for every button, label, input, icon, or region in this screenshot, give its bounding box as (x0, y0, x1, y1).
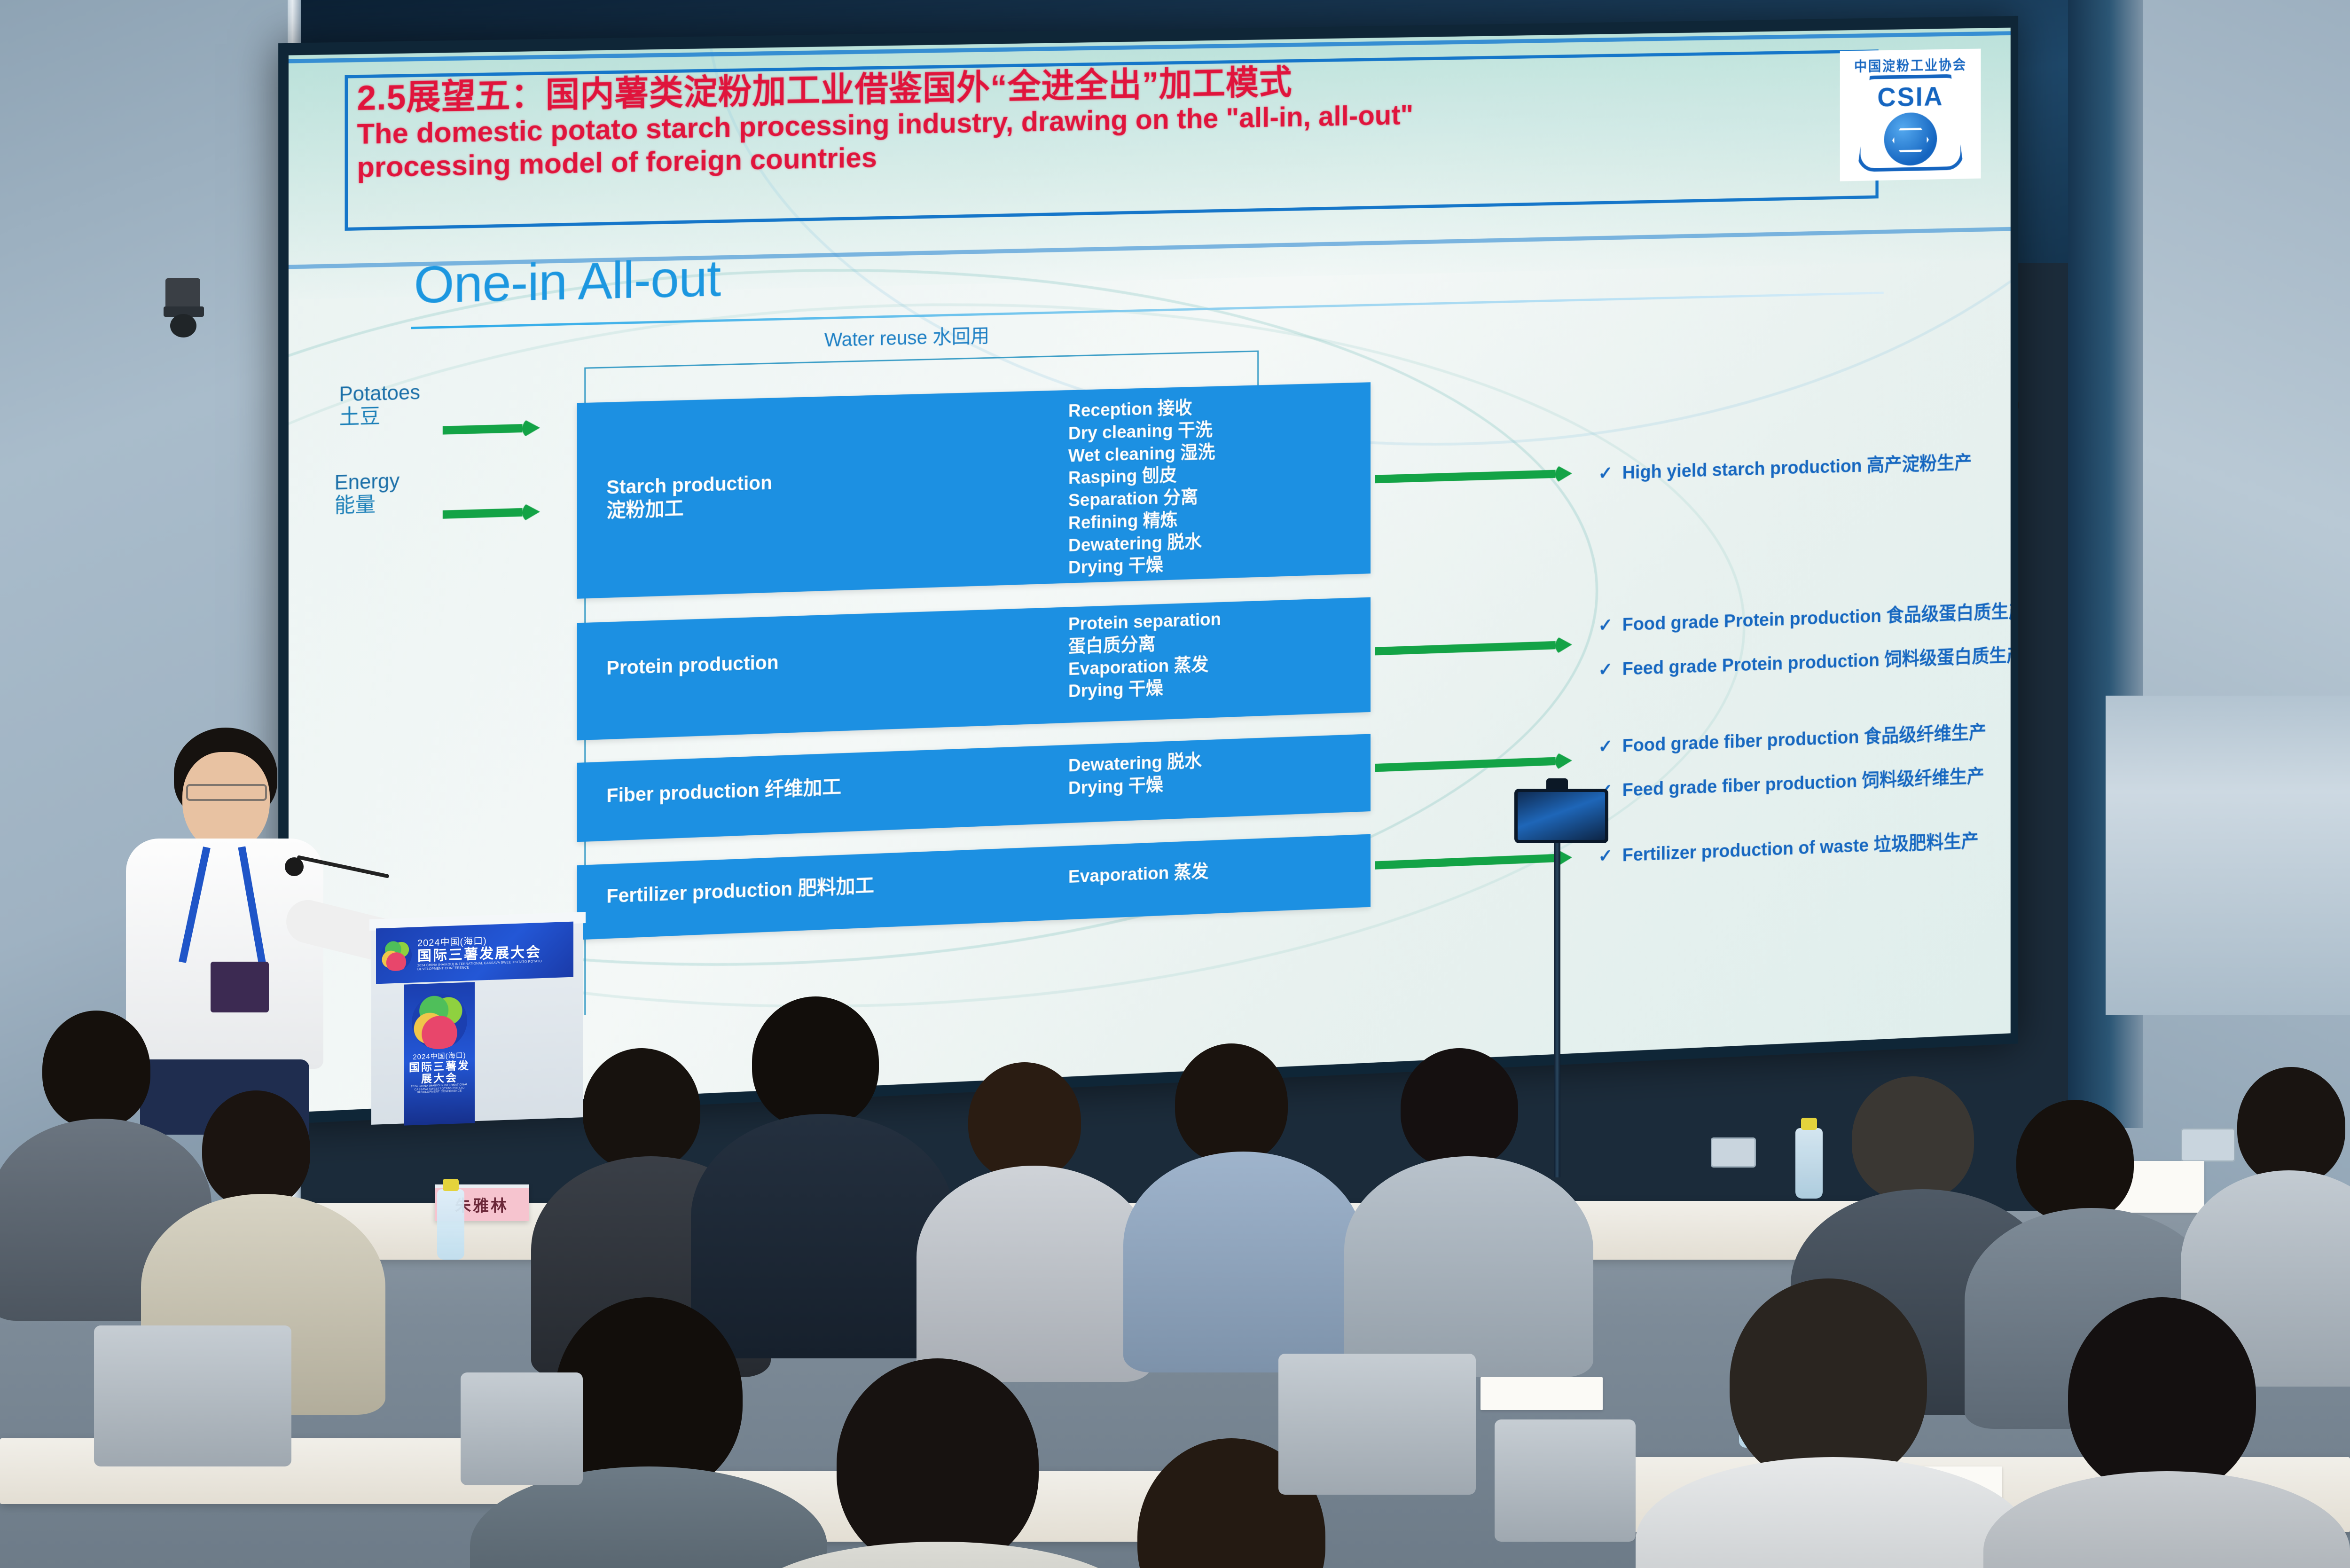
starch-steps-list: Reception 接收 Dry cleaning 干洗 Wet cleanin… (1068, 396, 1215, 580)
water-reuse-line (584, 351, 1258, 369)
output-feed-grade-protein: ✓Feed grade Protein production 饲料级蛋白质生产 (1598, 640, 2010, 682)
presenter-face (182, 752, 270, 853)
chair (94, 1325, 291, 1466)
input-label-potatoes: Potatoes 土豆 (339, 381, 420, 429)
check-icon: ✓ (1598, 846, 1613, 866)
chair (461, 1372, 583, 1485)
fiber-box-label: Fiber production 纤维加工 (606, 776, 841, 808)
process-box-fertilizer-production: Fertilizer production 肥料加工 Evaporation 蒸… (577, 834, 1371, 940)
water-bottle (1795, 1128, 1823, 1199)
presenter-badge (211, 962, 269, 1012)
process-box-protein-production: Protein production Protein separation 蛋白… (577, 597, 1371, 741)
wall-camera-lens (170, 314, 196, 337)
paper-document (1480, 1377, 1603, 1410)
arrow-protein-output (1375, 637, 1572, 659)
fiber-steps-list: Dewatering 脱水 Drying 干燥 (1068, 750, 1202, 800)
recording-phone (1514, 789, 1608, 843)
input-label-energy: Energy 能量 (335, 470, 400, 517)
output-feed-grade-fiber: ✓Feed grade fiber production 饲料级纤维生产 (1598, 760, 1984, 802)
starch-box-label: Starch production 淀粉加工 (606, 471, 772, 523)
output-high-yield-starch: ✓High yield starch production 高产淀粉生产 (1598, 447, 1972, 485)
water-bottle (437, 1189, 464, 1260)
wall-camera-bracket (165, 278, 200, 309)
tripod-pole (1554, 820, 1560, 1177)
podium-banner: 2024中国(海口) 国际三薯发展大会 2024 CHINA (HAIKOU) … (376, 922, 573, 984)
water-reuse-label: Water reuse 水回用 (824, 321, 989, 353)
conference-logo-icon-large (412, 993, 467, 1050)
protein-box-label: Protein production (606, 651, 778, 680)
podium-conference-name-en: 2024 CHINA (HAIKOU) INTERNATIONAL CASSAV… (404, 1083, 475, 1095)
check-icon: ✓ (1598, 659, 1613, 680)
water-reuse-line-down-right (1257, 351, 1259, 387)
check-icon: ✓ (1598, 615, 1613, 635)
fertilizer-steps-list: Evaporation 蒸发 (1068, 861, 1209, 889)
chair (1495, 1419, 1636, 1542)
output-food-grade-fiber: ✓Food grade fiber production 食品级纤维生产 (1598, 717, 1986, 758)
microphone-icon (285, 857, 304, 876)
arrow-fiber-output (1375, 753, 1572, 776)
podium-conference-name-cn: 国际三薯发展大会 (404, 1059, 475, 1086)
conference-logo-icon (381, 940, 412, 972)
process-box-starch-production: Starch production 淀粉加工 Reception 接收 Dry … (577, 382, 1371, 599)
process-box-fiber-production: Fiber production 纤维加工 Dewatering 脱水 Dryi… (577, 734, 1371, 842)
check-icon: ✓ (1598, 463, 1613, 483)
arrow-potatoes-to-starch (443, 420, 540, 438)
fertilizer-box-label: Fertilizer production 肥料加工 (606, 874, 874, 908)
arrow-starch-output (1375, 466, 1572, 487)
protein-steps-list: Protein separation 蛋白质分离 Evaporation 蒸发 … (1068, 609, 1221, 703)
conference-banner-text: 2024中国(海口) 国际三薯发展大会 2024 CHINA (HAIKOU) … (417, 933, 569, 972)
output-fertilizer-of-waste: ✓Fertilizer production of waste 垃圾肥料生产 (1598, 825, 1978, 868)
output-food-grade-protein: ✓Food grade Protein production 食品级蛋白质生产 (1598, 596, 2010, 637)
podium-panel-text: 2024中国(海口) 国际三薯发展大会 2024 CHINA (HAIKOU) … (404, 1051, 475, 1095)
arrow-energy-to-starch (443, 504, 540, 523)
wall-outlet (2181, 1128, 2235, 1162)
glasses-icon (186, 784, 267, 801)
wall-outlet (1711, 1137, 1756, 1168)
conference-room-scene: 2.5展望五：国内薯类淀粉加工业借鉴国外“全进全出”加工模式 The domes… (0, 0, 2350, 1568)
podium-front-panel: 2024中国(海口) 国际三薯发展大会 2024 CHINA (HAIKOU) … (404, 982, 475, 1125)
arrow-fertilizer-output (1375, 850, 1572, 873)
check-icon: ✓ (1598, 737, 1613, 757)
chair (1278, 1354, 1476, 1495)
right-wall-panel (2106, 696, 2350, 1015)
